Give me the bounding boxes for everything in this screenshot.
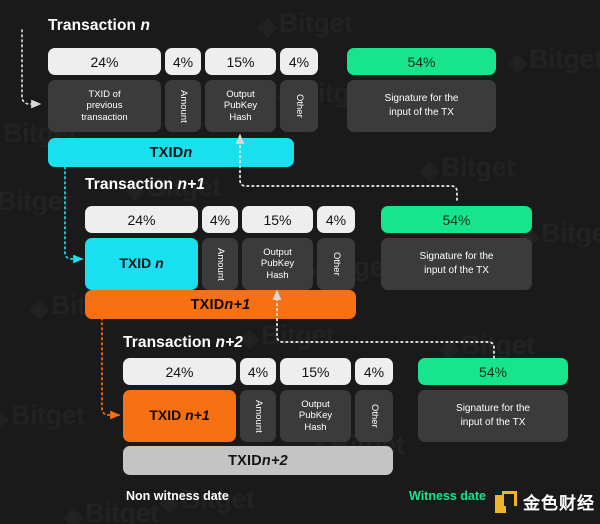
txid-bar-n2: TXID n+2 xyxy=(123,446,393,475)
pct-badge-4a: 4% xyxy=(240,358,276,385)
field-output-pubkey-hash: Output PubKey Hash xyxy=(205,80,276,132)
watermark-text: ◈Bitget xyxy=(240,320,334,351)
field-output-pubkey-hash: Output PubKey Hash xyxy=(242,238,313,290)
pct-badge-54: 54% xyxy=(381,206,532,233)
pct-badge-15: 15% xyxy=(205,48,276,75)
pct-badge-4b: 4% xyxy=(317,206,355,233)
pct-badge-24: 24% xyxy=(48,48,161,75)
field-other: Other xyxy=(317,238,355,290)
field-line: Output xyxy=(299,399,332,411)
field-amount: Amount xyxy=(165,80,201,132)
field-line: transaction xyxy=(81,112,127,124)
legend-witness: Witness date xyxy=(409,489,486,503)
field-signature: Signature for the input of the TX xyxy=(418,390,568,442)
transaction-title-n1: Transaction n+1 xyxy=(85,176,205,194)
field-other: Other xyxy=(280,80,318,132)
pct-badge-4a: 4% xyxy=(165,48,201,75)
pct-badge-24: 24% xyxy=(123,358,236,385)
jinse-logo-icon xyxy=(495,491,517,513)
transaction-title-n2: Transaction n+2 xyxy=(123,334,243,352)
field-line: PubKey xyxy=(224,100,257,112)
txid-bar-n1: TXID n+1 xyxy=(85,290,356,319)
field-txid-of-previous-transaction: TXID of previous transaction xyxy=(48,80,161,132)
diagram-canvas: ◈Bitget ◈Bitget ◈Bitget ◈Bitget ◈Bitget … xyxy=(0,0,600,524)
field-other: Other xyxy=(355,390,393,442)
field-line: Signature for the xyxy=(456,402,530,417)
watermark-text: ◈Bitget xyxy=(520,218,600,249)
watermark-text: ◈Bitget xyxy=(440,330,534,361)
field-line: Hash xyxy=(299,422,332,434)
pct-badge-4a: 4% xyxy=(202,206,238,233)
transaction-title-n: Transaction n xyxy=(48,17,150,35)
pct-badge-24: 24% xyxy=(85,206,198,233)
field-line: Output xyxy=(224,89,257,101)
field-line: Hash xyxy=(224,112,257,124)
field-txid-n-reference: TXID n xyxy=(85,238,198,290)
pct-badge-54: 54% xyxy=(418,358,568,385)
field-signature: Signature for the input of the TX xyxy=(381,238,532,290)
pct-badge-4b: 4% xyxy=(280,48,318,75)
field-signature: Signature for the input of the TX xyxy=(347,80,496,132)
field-line: PubKey xyxy=(261,258,294,270)
watermark-text: ◈Bitget xyxy=(420,152,514,183)
field-line: PubKey xyxy=(299,410,332,422)
arrow-txid-n-to-tx-n1 xyxy=(65,167,82,259)
field-line: Hash xyxy=(261,270,294,282)
arrow-txid-n1-to-tx-n2 xyxy=(102,318,119,415)
field-line: Signature for the xyxy=(385,92,459,107)
legend-non-witness: Non witness date xyxy=(126,489,229,503)
arrow-input-tx-n xyxy=(22,30,40,104)
field-line: input of the TX xyxy=(456,416,530,431)
brand-logo: 金色财经 xyxy=(495,489,595,514)
field-line: TXID of xyxy=(81,89,127,101)
pct-badge-15: 15% xyxy=(242,206,313,233)
watermark-text: ◈Bitget xyxy=(508,44,600,75)
field-line: previous xyxy=(81,100,127,112)
watermark-text: ◈Bitget xyxy=(0,186,70,217)
watermark-text: ◈Bitget xyxy=(258,8,352,39)
field-line: input of the TX xyxy=(385,106,459,121)
field-line: input of the TX xyxy=(420,264,494,279)
field-line: Output xyxy=(261,247,294,259)
pct-badge-54: 54% xyxy=(347,48,496,75)
field-amount: Amount xyxy=(240,390,276,442)
field-txid-n1-reference: TXID n+1 xyxy=(123,390,236,442)
txid-bar-n: TXID n xyxy=(48,138,294,167)
field-output-pubkey-hash: Output PubKey Hash xyxy=(280,390,351,442)
field-line: Signature for the xyxy=(420,250,494,265)
brand-name: 金色财经 xyxy=(523,489,595,514)
pct-badge-15: 15% xyxy=(280,358,351,385)
field-amount: Amount xyxy=(202,238,238,290)
pct-badge-4b: 4% xyxy=(355,358,393,385)
watermark-text: ◈Bitget xyxy=(0,400,84,431)
